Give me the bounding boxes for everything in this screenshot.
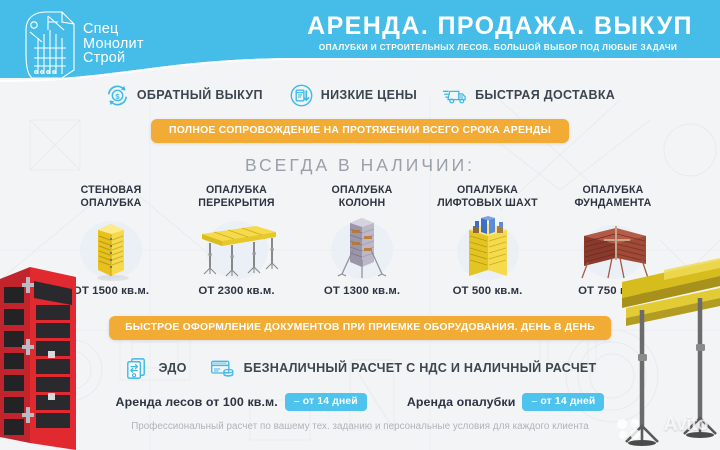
brand-name-line-1: Спец: [83, 22, 144, 37]
product-title: ОПАЛУБКА ПЕРЕКРЫТИЯ: [198, 184, 274, 210]
feature-label: БЫСТРАЯ ДОСТАВКА: [475, 88, 615, 102]
brand-logo: Спец Монолит Строй: [18, 7, 148, 81]
term-item-formwork: Аренда опалубки – от 14 дней: [407, 393, 605, 411]
product-price: ОТ 2300 кв.м.: [198, 285, 274, 297]
headline-subtitle: ОПАЛУБКИ И СТРОИТЕЛЬНЫХ ЛЕСОВ. БОЛЬШОЙ В…: [280, 42, 716, 52]
avito-dots-icon: [616, 418, 642, 440]
documents-banner: БЫСТРОЕ ОФОРМЛЕНИЕ ДОКУМЕНТОВ ПРИ ПРИЕМК…: [109, 316, 611, 340]
slab-formwork-props-icon: [184, 212, 290, 284]
feature-label: НИЗКИЕ ЦЕНЫ: [321, 88, 417, 102]
product-card-slab-formwork[interactable]: ОПАЛУБКА ПЕРЕКРЫТИЯ: [178, 184, 296, 297]
product-list: СТЕНОВАЯ ОПАЛУБКА: [52, 184, 672, 312]
brand-name-line-2: Монолит: [83, 37, 144, 52]
term-item-scaffolding: Аренда лесов от 100 кв.м. – от 14 дней: [116, 393, 367, 411]
product-price: ОТ 1300 кв.м.: [324, 285, 400, 297]
fast-delivery-truck-icon: [443, 83, 468, 108]
product-price: ОТ 500 кв.м.: [453, 285, 523, 297]
product-title: ОПАЛУБКА ЛИФТОВЫХ ШАХТ: [437, 184, 538, 210]
stock-heading: ВСЕГДА В НАЛИЧИИ:: [0, 155, 720, 176]
card-and-cash-icon: [209, 355, 236, 382]
payment-item-edo: ЭДО: [123, 355, 186, 382]
term-label: Аренда лесов от 100 кв.м.: [116, 395, 278, 409]
product-title: ОПАЛУБКА ФУНДАМЕНТА: [574, 184, 651, 210]
advertisement-banner: Спец Монолит Строй АРЕНДА. ПРОДАЖА. ВЫКУ…: [0, 0, 720, 450]
svg-text:$: $: [115, 91, 120, 100]
product-title: СТЕНОВАЯ ОПАЛУБКА: [81, 184, 142, 210]
term-badge: – от 14 дней: [522, 393, 604, 411]
brand-name: Спец Монолит Строй: [83, 22, 144, 66]
feature-item-buyback: $ ОБРАТНЫЙ ВЫКУП: [105, 83, 263, 108]
low-price-tag-circle-icon: [289, 83, 314, 108]
support-banner: ПОЛНОЕ СОПРОВОЖДЕНИЕ НА ПРОТЯЖЕНИИ ВСЕГО…: [151, 119, 569, 143]
payment-item-cashless-and-cash: БЕЗНАЛИЧНЫЙ РАСЧЕТ С НДС И НАЛИЧНЫЙ РАСЧ…: [209, 355, 597, 382]
feature-item-fast-delivery: БЫСТРАЯ ДОСТАВКА: [443, 83, 615, 108]
red-wall-formwork-panel-photo: [0, 265, 88, 450]
product-illustration: [309, 212, 415, 284]
headline-title: АРЕНДА. ПРОДАЖА. ВЫКУП: [300, 12, 700, 41]
lift-shaft-formwork-icon: [435, 212, 541, 284]
product-card-lift-shaft-formwork[interactable]: ОПАЛУБКА ЛИФТОВЫХ ШАХТ: [429, 184, 547, 297]
product-illustration: [184, 212, 290, 284]
feature-list: $ ОБРАТНЫЙ ВЫКУП НИЗКИЕ ЦЕНЫ: [0, 80, 720, 110]
payment-label: БЕЗНАЛИЧНЫЙ РАСЧЕТ С НДС И НАЛИЧНЫЙ РАСЧ…: [244, 361, 597, 375]
feature-item-low-prices: НИЗКИЕ ЦЕНЫ: [289, 83, 417, 108]
payment-label: ЭДО: [158, 361, 186, 375]
term-label: Аренда опалубки: [407, 395, 516, 409]
edo-documents-exchange-icon: [123, 355, 150, 382]
term-badge: – от 14 дней: [285, 393, 367, 411]
product-card-column-formwork[interactable]: ОПАЛУБКА КОЛОНН: [303, 184, 421, 297]
avito-watermark: Avito: [664, 414, 708, 436]
product-title: ОПАЛУБКА КОЛОНН: [332, 184, 393, 210]
feature-label: ОБРАТНЫЙ ВЫКУП: [137, 88, 263, 102]
brand-name-line-3: Строй: [83, 51, 144, 66]
product-illustration: [435, 212, 541, 284]
building-crane-logo-icon: [18, 8, 80, 80]
buyback-circular-arrows-dollar-icon: $: [105, 83, 130, 108]
column-formwork-icon: [309, 212, 415, 284]
